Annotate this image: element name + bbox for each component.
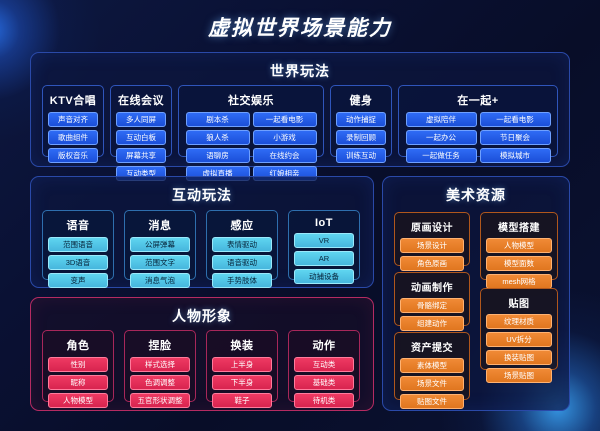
- group-ktv: KTV合唱 声音对齐 歌曲组件 版权音乐: [42, 85, 104, 157]
- group-asset-submission-chips: 素体模型 场景文件 贴图文件: [395, 358, 469, 413]
- group-role-title: 角色: [43, 337, 113, 353]
- chip-item[interactable]: 素体模型: [400, 358, 464, 373]
- chip-item[interactable]: 一起办公: [406, 130, 477, 145]
- chip-item[interactable]: 3D语音: [48, 255, 108, 270]
- group-model-building-title: 模型搭建: [481, 219, 557, 234]
- group-ktv-title: KTV合唱: [43, 92, 103, 108]
- chip-item[interactable]: 狼人杀: [186, 130, 250, 145]
- group-social-entertainment-chips: 剧本杀 一起看电影 狼人杀 小游戏 语聊房 在线约会 虚拟直播 红娘相亲: [179, 112, 323, 185]
- chip-item[interactable]: 动捕设备: [294, 269, 354, 284]
- chip-item[interactable]: 昵称: [48, 375, 108, 390]
- chip-item[interactable]: 歌曲组件: [48, 130, 98, 145]
- chip-item[interactable]: 上半身: [212, 357, 272, 372]
- chip-item[interactable]: 一起做任务: [406, 148, 477, 163]
- group-outfit: 换装 上半身 下半身 鞋子: [206, 330, 278, 402]
- group-voice-chips: 范围语音 3D语音 变声: [43, 237, 113, 292]
- group-model-building-chips: 人物模型 模型面数 mesh网格: [481, 238, 557, 293]
- chip-item[interactable]: 录制回顾: [336, 130, 386, 145]
- section-art-title: 美术资源: [383, 185, 569, 205]
- chip-item[interactable]: 五官形状调整: [130, 393, 190, 408]
- chip-item[interactable]: 一起看电影: [253, 112, 317, 127]
- chip-item[interactable]: 语聊房: [186, 148, 250, 163]
- chip-item[interactable]: 范围语音: [48, 237, 108, 252]
- group-fitness-chips: 动作捕捉 录制回顾 训练互动: [331, 112, 391, 167]
- chip-item[interactable]: 公屏弹幕: [130, 237, 190, 252]
- group-outfit-title: 换装: [207, 337, 277, 353]
- chip-item[interactable]: 模型面数: [486, 256, 552, 271]
- group-concept-design-chips: 场景设计 角色原画: [395, 238, 469, 275]
- group-voice: 语音 范围语音 3D语音 变声: [42, 210, 114, 280]
- group-sensing-chips: 表情驱动 语音驱动 手势肢体: [207, 237, 277, 292]
- chip-item[interactable]: 一起看电影: [480, 112, 551, 127]
- chip-item[interactable]: 模拟城市: [480, 148, 551, 163]
- group-together-plus-title: 在一起+: [399, 92, 557, 108]
- group-online-meeting-chips: 多人同屏 互动白板 屏幕共享 互动类型: [111, 112, 171, 185]
- chip-item[interactable]: 待机类: [294, 393, 354, 408]
- chip-item[interactable]: 角色原画: [400, 256, 464, 271]
- chip-item[interactable]: 互动白板: [116, 130, 166, 145]
- group-texture: 贴图 纹理材质 UV拆分 换装贴图 场景贴图: [480, 288, 558, 370]
- group-online-meeting-title: 在线会议: [111, 92, 171, 108]
- chip-item[interactable]: 人物模型: [486, 238, 552, 253]
- group-motion-chips: 互动类 基础类 待机类: [289, 357, 359, 412]
- group-iot-title: IoT: [289, 217, 359, 229]
- chip-item[interactable]: 样式选择: [130, 357, 190, 372]
- group-animation-chips: 骨骼绑定 组建动作: [395, 298, 469, 335]
- chip-item[interactable]: 性别: [48, 357, 108, 372]
- group-asset-submission: 资产提交 素体模型 场景文件 贴图文件: [394, 332, 470, 400]
- group-texture-title: 贴图: [481, 295, 557, 310]
- group-message: 消息 公屏弹幕 范围文字 消息气泡: [124, 210, 196, 280]
- group-motion-title: 动作: [289, 337, 359, 353]
- group-fitness-title: 健身: [331, 92, 391, 108]
- group-voice-title: 语音: [43, 217, 113, 233]
- chip-item[interactable]: mesh网格: [486, 274, 552, 289]
- group-face-sculpting-title: 捏脸: [125, 337, 195, 353]
- chip-item[interactable]: 屏幕共享: [116, 148, 166, 163]
- group-asset-submission-title: 资产提交: [395, 339, 469, 354]
- group-face-sculpting-chips: 样式选择 色调调整 五官形状调整: [125, 357, 195, 412]
- chip-item[interactable]: 场景设计: [400, 238, 464, 253]
- group-together-plus-chips: 虚拟陪伴 一起看电影 一起办公 节日聚会 一起做任务 模拟城市: [399, 112, 557, 167]
- group-model-building: 模型搭建 人物模型 模型面数 mesh网格: [480, 212, 558, 280]
- chip-item[interactable]: 版权音乐: [48, 148, 98, 163]
- chip-item[interactable]: 互动类: [294, 357, 354, 372]
- group-message-chips: 公屏弹幕 范围文字 消息气泡: [125, 237, 195, 292]
- group-ktv-chips: 声音对齐 歌曲组件 版权音乐: [43, 112, 103, 167]
- chip-item[interactable]: 贴图文件: [400, 394, 464, 409]
- chip-item[interactable]: 人物模型: [48, 393, 108, 408]
- chip-item[interactable]: 剧本杀: [186, 112, 250, 127]
- chip-item[interactable]: 色调调整: [130, 375, 190, 390]
- page-title: 虚拟世界场景能力: [0, 12, 600, 42]
- group-face-sculpting: 捏脸 样式选择 色调调整 五官形状调整: [124, 330, 196, 402]
- group-role: 角色 性别 昵称 人物模型: [42, 330, 114, 402]
- chip-item[interactable]: VR: [294, 233, 354, 248]
- group-concept-design-title: 原画设计: [395, 219, 469, 234]
- chip-item[interactable]: 组建动作: [400, 316, 464, 331]
- group-fitness: 健身 动作捕捉 录制回顾 训练互动: [330, 85, 392, 157]
- chip-item[interactable]: 消息气泡: [130, 273, 190, 288]
- group-concept-design: 原画设计 场景设计 角色原画: [394, 212, 470, 266]
- group-together-plus: 在一起+ 虚拟陪伴 一起看电影 一起办公 节日聚会 一起做任务 模拟城市: [398, 85, 558, 157]
- group-social-entertainment: 社交娱乐 剧本杀 一起看电影 狼人杀 小游戏 语聊房 在线约会 虚拟直播 红娘相…: [178, 85, 324, 157]
- group-online-meeting: 在线会议 多人同屏 互动白板 屏幕共享 互动类型: [110, 85, 172, 157]
- chip-item[interactable]: 表情驱动: [212, 237, 272, 252]
- group-message-title: 消息: [125, 217, 195, 233]
- chip-item[interactable]: 训练互动: [336, 148, 386, 163]
- chip-item[interactable]: 纹理材质: [486, 314, 552, 329]
- chip-item[interactable]: 下半身: [212, 375, 272, 390]
- chip-item[interactable]: 场景贴图: [486, 368, 552, 383]
- chip-item[interactable]: AR: [294, 251, 354, 266]
- chip-item[interactable]: 在线约会: [253, 148, 317, 163]
- group-sensing: 感应 表情驱动 语音驱动 手势肢体: [206, 210, 278, 280]
- group-texture-chips: 纹理材质 UV拆分 换装贴图 场景贴图: [481, 314, 557, 387]
- group-social-entertainment-title: 社交娱乐: [179, 92, 323, 108]
- chip-item[interactable]: 鞋子: [212, 393, 272, 408]
- chip-item[interactable]: 虚拟陪伴: [406, 112, 477, 127]
- group-role-chips: 性别 昵称 人物模型: [43, 357, 113, 412]
- group-sensing-title: 感应: [207, 217, 277, 233]
- chip-item[interactable]: 变声: [48, 273, 108, 288]
- section-world-title: 世界玩法: [31, 61, 569, 81]
- chip-item[interactable]: 节日聚会: [480, 130, 551, 145]
- group-animation-title: 动画制作: [395, 279, 469, 294]
- group-outfit-chips: 上半身 下半身 鞋子: [207, 357, 277, 412]
- chip-item[interactable]: 多人同屏: [116, 112, 166, 127]
- section-avatar-title: 人物形象: [31, 306, 373, 326]
- chip-item[interactable]: 小游戏: [253, 130, 317, 145]
- chip-item[interactable]: 基础类: [294, 375, 354, 390]
- chip-item[interactable]: 手势肢体: [212, 273, 272, 288]
- chip-item[interactable]: UV拆分: [486, 332, 552, 347]
- chip-item[interactable]: 换装贴图: [486, 350, 552, 365]
- group-motion: 动作 互动类 基础类 待机类: [288, 330, 360, 402]
- infographic-page: 虚拟世界场景能力 世界玩法 KTV合唱 声音对齐 歌曲组件 版权音乐 在线会议 …: [0, 0, 600, 431]
- group-animation: 动画制作 骨骼绑定 组建动作: [394, 272, 470, 326]
- chip-item[interactable]: 声音对齐: [48, 112, 98, 127]
- chip-item[interactable]: 场景文件: [400, 376, 464, 391]
- chip-item[interactable]: 骨骼绑定: [400, 298, 464, 313]
- chip-item[interactable]: 语音驱动: [212, 255, 272, 270]
- group-iot-chips: VR AR 动捕设备: [289, 233, 359, 288]
- group-iot: IoT VR AR 动捕设备: [288, 210, 360, 280]
- chip-item[interactable]: 动作捕捉: [336, 112, 386, 127]
- chip-item[interactable]: 范围文字: [130, 255, 190, 270]
- section-interactive-title: 互动玩法: [31, 185, 373, 205]
